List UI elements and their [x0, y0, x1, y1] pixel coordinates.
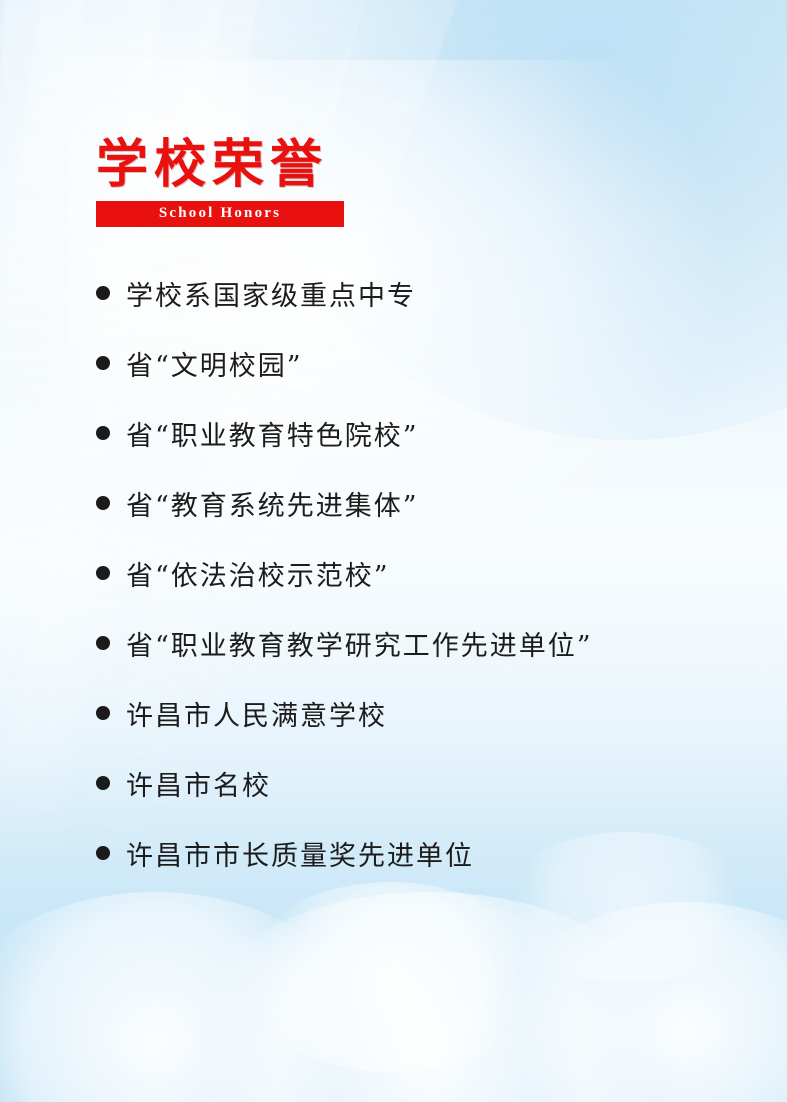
list-item: 省“职业教育特色院校”: [96, 398, 756, 468]
bullet-icon: [96, 496, 110, 510]
honor-text: 省“职业教育教学研究工作先进单位”: [126, 624, 593, 663]
title-subtitle-bar: School Honors: [96, 201, 344, 227]
bullet-icon: [96, 566, 110, 580]
list-item: 许昌市人民满意学校: [96, 678, 756, 748]
honor-text: 省“依法治校示范校”: [126, 554, 390, 593]
list-item: 许昌市名校: [96, 748, 756, 818]
list-item: 省“文明校园”: [96, 328, 756, 398]
list-item: 省“职业教育教学研究工作先进单位”: [96, 608, 756, 678]
honor-text: 省“职业教育特色院校”: [126, 414, 419, 453]
cloud-icon: [240, 882, 540, 1072]
bullet-icon: [96, 426, 110, 440]
bullet-icon: [96, 286, 110, 300]
honor-text: 许昌市市长质量奖先进单位: [126, 834, 474, 873]
honor-list: 学校系国家级重点中专 省“文明校园” 省“职业教育特色院校” 省“教育系统先进集…: [96, 258, 756, 888]
page-subtitle: School Honors: [159, 205, 281, 222]
list-item: 学校系国家级重点中专: [96, 258, 756, 328]
honor-text: 省“文明校园”: [126, 344, 303, 383]
honor-text: 许昌市名校: [126, 764, 271, 803]
list-item: 许昌市市长质量奖先进单位: [96, 818, 756, 888]
page-title: 学校荣誉: [96, 138, 344, 193]
bullet-icon: [96, 636, 110, 650]
poster-page: 学校荣誉 School Honors 学校系国家级重点中专 省“文明校园” 省“…: [0, 0, 787, 1102]
honor-text: 学校系国家级重点中专: [126, 274, 416, 313]
bullet-icon: [96, 356, 110, 370]
bullet-icon: [96, 776, 110, 790]
title-block: 学校荣誉 School Honors: [96, 138, 344, 227]
honor-text: 许昌市人民满意学校: [126, 694, 387, 733]
bullet-icon: [96, 846, 110, 860]
list-item: 省“教育系统先进集体”: [96, 468, 756, 538]
honor-text: 省“教育系统先进集体”: [126, 484, 419, 523]
list-item: 省“依法治校示范校”: [96, 538, 756, 608]
bullet-icon: [96, 706, 110, 720]
